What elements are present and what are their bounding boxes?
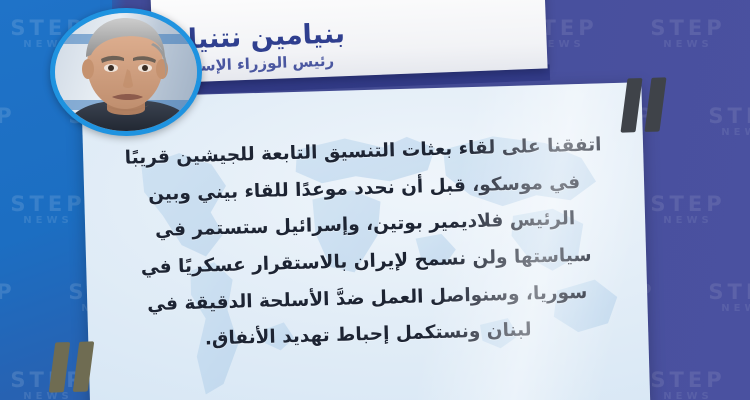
avatar bbox=[50, 8, 202, 136]
opening-quote-mark-icon bbox=[623, 77, 663, 132]
portrait-photo bbox=[55, 13, 197, 131]
closing-quote-mark-icon bbox=[51, 341, 91, 392]
graphic-canvas: STEPNEWSSTEPNEWSSTEPNEWSSTEPNEWSSTEPNEWS… bbox=[0, 0, 750, 400]
